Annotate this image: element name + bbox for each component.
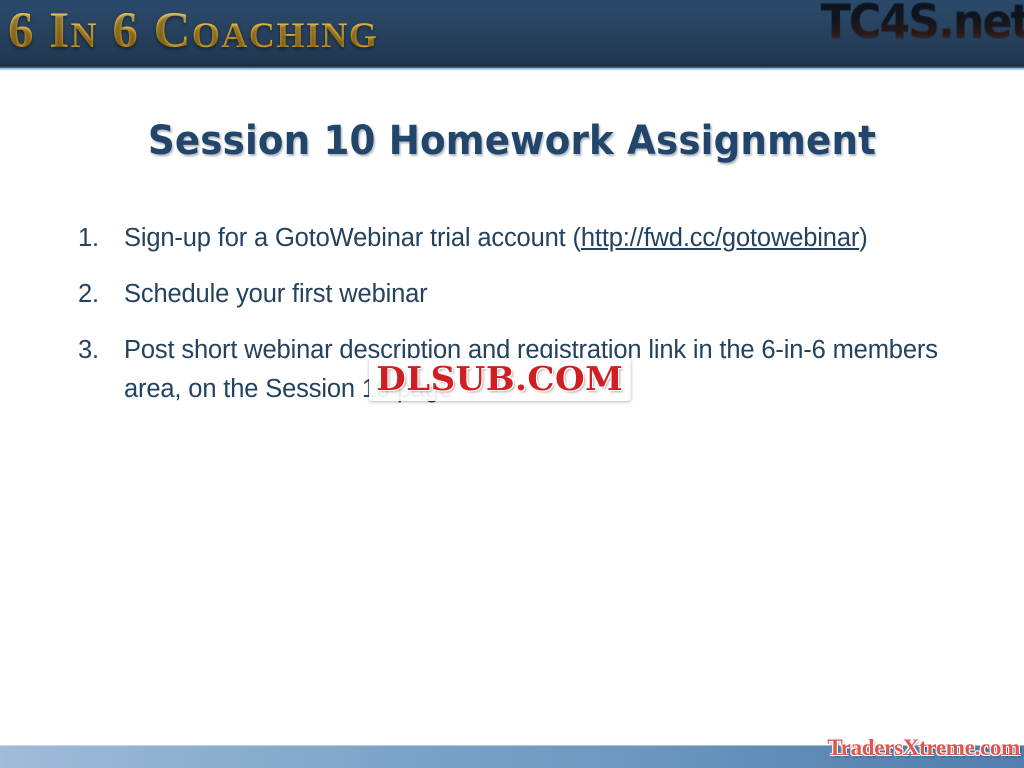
- list-item-text: Sign-up for a GotoWebinar trial account …: [124, 224, 581, 252]
- list-item: 2.Schedule your first webinar: [74, 275, 974, 314]
- dlsub-watermark: DLSUB.COM: [369, 358, 630, 401]
- footer-logo-tradersxtreme: TradersXtreme.com: [827, 735, 1020, 761]
- slide-header-banner: 6 In 6 Coaching TC4S.net: [0, 0, 1024, 68]
- list-marker: 2.: [78, 275, 110, 314]
- slide-title: Session 10 Homework Assignment: [36, 118, 988, 164]
- list-item-text: Schedule your first webinar: [124, 280, 428, 308]
- list-marker: 3.: [78, 331, 110, 370]
- list-item: 1.Sign-up for a GotoWebinar trial accoun…: [74, 219, 974, 258]
- presentation-slide: 6 In 6 Coaching TC4S.net Session 10 Home…: [0, 0, 1024, 768]
- list-item-text-tail: ): [859, 224, 867, 252]
- list-marker: 1.: [78, 219, 110, 258]
- site-logo-tc4s: TC4S.net: [821, 0, 1024, 47]
- gotowebinar-trial-link[interactable]: http://fwd.cc/gotowebinar: [581, 224, 859, 252]
- brand-logo-6in6-coaching: 6 In 6 Coaching: [8, 4, 378, 59]
- header-divider-line: [0, 68, 1024, 71]
